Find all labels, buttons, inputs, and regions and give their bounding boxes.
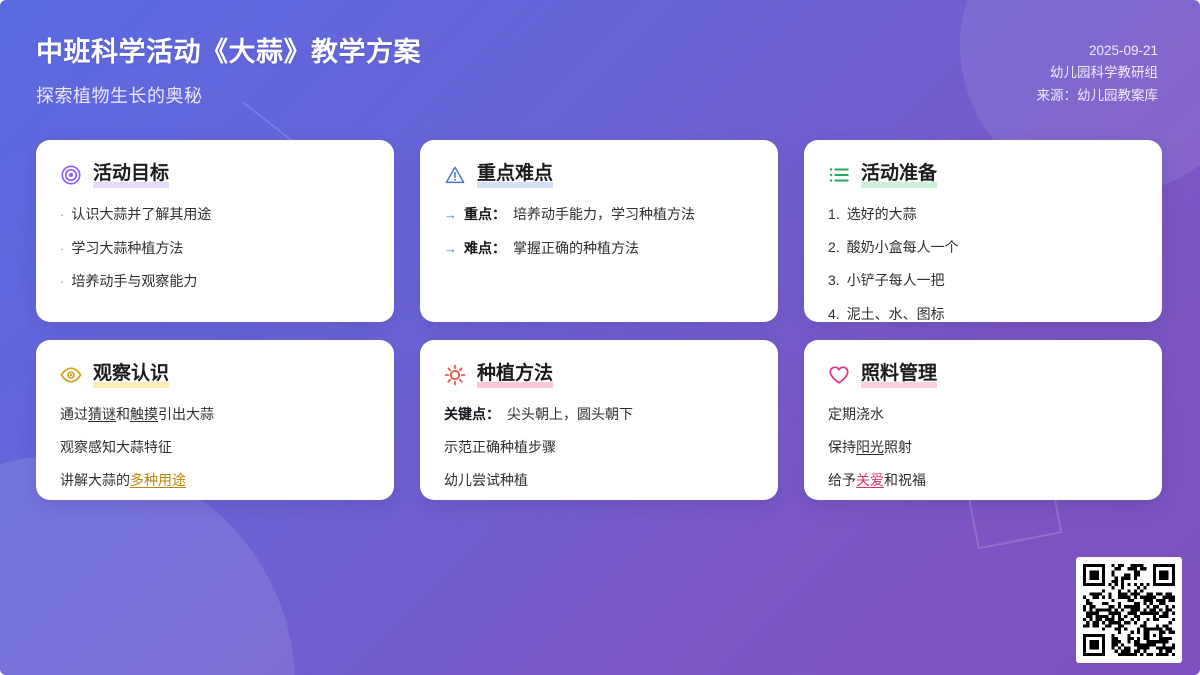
list-item: 1.选好的大蒜: [828, 204, 1138, 224]
text-segment: 通过: [60, 406, 88, 422]
card-header: 种植方法: [444, 362, 754, 388]
item-text: 认识大蒜并了解其用途: [71, 204, 211, 224]
list-item: 示范正确种植步骤: [444, 437, 754, 457]
card-title: 活动准备: [861, 162, 937, 188]
card-header: 重点难点: [444, 162, 754, 188]
item-text: 通过猜谜和触摸引出大蒜: [60, 404, 214, 424]
card-key-difficulties: 重点难点→重点：培养动手能力，学习种植方法→难点：掌握正确的种植方法: [420, 140, 778, 322]
item-text: 幼儿尝试种植: [444, 470, 528, 490]
item-text: 示范正确种植步骤: [444, 437, 556, 457]
bullet-dot-icon: ·: [60, 240, 64, 259]
item-text: 掌握正确的种植方法: [513, 238, 639, 258]
list-item: 幼儿尝试种植: [444, 470, 754, 490]
card-title: 种植方法: [477, 362, 553, 388]
list-item: 保持阳光照射: [828, 437, 1138, 457]
header-meta: 2025-09-21 幼儿园科学教研组 来源：幼儿园教案库: [1037, 30, 1159, 107]
item-text: 培养动手能力，学习种植方法: [513, 204, 695, 224]
card-activity-preparation: 活动准备1.选好的大蒜2.酸奶小盒每人一个3.小铲子每人一把4.泥土、水、图标: [804, 140, 1162, 322]
meta-date: 2025-09-21: [1037, 40, 1159, 62]
item-text: 讲解大蒜的多种用途: [60, 470, 186, 490]
highlighted-term[interactable]: 多种用途: [130, 472, 186, 488]
card-body: 1.选好的大蒜2.酸奶小盒每人一个3.小铲子每人一把4.泥土、水、图标: [828, 204, 1138, 322]
bullet-dot-icon: ·: [60, 273, 64, 292]
card-body: →重点：培养动手能力，学习种植方法→难点：掌握正确的种植方法: [444, 204, 754, 259]
card-observation: 观察认识通过猜谜和触摸引出大蒜观察感知大蒜特征讲解大蒜的多种用途: [36, 340, 394, 500]
card-header: 活动目标: [60, 162, 370, 188]
list-item: 2.酸奶小盒每人一个: [828, 237, 1138, 257]
card-planting-method: 种植方法关键点：尖头朝上，圆头朝下示范正确种植步骤幼儿尝试种植: [420, 340, 778, 500]
slide-canvas: 中班科学活动《大蒜》教学方案 探索植物生长的奥秘 2025-09-21 幼儿园科…: [0, 0, 1200, 675]
card-title: 观察认识: [93, 362, 169, 388]
card-header: 照料管理: [828, 362, 1138, 388]
qr-code[interactable]: [1076, 557, 1182, 663]
text-segment: 示范正确种植步骤: [444, 439, 556, 455]
card-body: 通过猜谜和触摸引出大蒜观察感知大蒜特征讲解大蒜的多种用途: [60, 404, 370, 491]
card-title: 照料管理: [861, 362, 937, 388]
card-header: 观察认识: [60, 362, 370, 388]
list-item: 讲解大蒜的多种用途: [60, 470, 370, 490]
text-segment: 和祝福: [884, 472, 926, 488]
item-text: 酸奶小盒每人一个: [847, 237, 959, 257]
list-icon: [828, 164, 850, 186]
item-text: 定期浇水: [828, 404, 884, 424]
list-item: 定期浇水: [828, 404, 1138, 424]
slide-header: 中班科学活动《大蒜》教学方案 探索植物生长的奥秘 2025-09-21 幼儿园科…: [0, 0, 1200, 140]
text-segment: 定期浇水: [828, 406, 884, 422]
list-item: →难点：掌握正确的种植方法: [444, 238, 754, 259]
list-item: ·认识大蒜并了解其用途: [60, 204, 370, 225]
list-number: 3.: [828, 270, 840, 290]
meta-source: 来源：幼儿园教案库: [1037, 85, 1159, 107]
item-text: 小铲子每人一把: [847, 270, 945, 290]
text-segment: 给予: [828, 472, 856, 488]
list-item: 关键点：尖头朝上，圆头朝下: [444, 404, 754, 424]
list-item: →重点：培养动手能力，学习种植方法: [444, 204, 754, 225]
qr-code-image: [1083, 564, 1175, 656]
highlighted-term[interactable]: 猜谜: [88, 406, 116, 422]
item-text: 尖头朝上，圆头朝下: [507, 404, 633, 424]
card-body: 关键点：尖头朝上，圆头朝下示范正确种植步骤幼儿尝试种植: [444, 404, 754, 491]
item-text: 观察感知大蒜特征: [60, 437, 172, 457]
highlighted-term[interactable]: 阳光: [856, 439, 884, 455]
card-title: 活动目标: [93, 162, 169, 188]
item-text: 泥土、水、图标: [847, 304, 945, 322]
item-text: 保持阳光照射: [828, 437, 912, 457]
list-item: 通过猜谜和触摸引出大蒜: [60, 404, 370, 424]
warning-triangle-icon: [444, 164, 466, 186]
list-number: 1.: [828, 204, 840, 224]
heart-icon: [828, 364, 850, 386]
list-item: 3.小铲子每人一把: [828, 270, 1138, 290]
list-item: 4.泥土、水、图标: [828, 304, 1138, 322]
highlighted-term[interactable]: 触摸: [130, 406, 158, 422]
list-number: 2.: [828, 237, 840, 257]
item-label: 难点：: [464, 238, 506, 258]
text-segment: 引出大蒜: [158, 406, 214, 422]
card-body: 定期浇水保持阳光照射给予关爱和祝福: [828, 404, 1138, 491]
card-care-management: 照料管理定期浇水保持阳光照射给予关爱和祝福: [804, 340, 1162, 500]
text-segment: 照射: [884, 439, 912, 455]
page-subtitle: 探索植物生长的奥秘: [36, 82, 421, 108]
arrow-right-icon: →: [444, 240, 457, 259]
title-block: 中班科学活动《大蒜》教学方案 探索植物生长的奥秘: [36, 30, 421, 108]
sun-icon: [444, 364, 466, 386]
list-item: 观察感知大蒜特征: [60, 437, 370, 457]
item-label: 关键点：: [444, 404, 500, 424]
card-title: 重点难点: [477, 162, 553, 188]
bullet-dot-icon: ·: [60, 206, 64, 225]
arrow-right-icon: →: [444, 206, 457, 225]
item-text: 学习大蒜种植方法: [71, 238, 183, 258]
card-header: 活动准备: [828, 162, 1138, 188]
card-activity-goals: 活动目标·认识大蒜并了解其用途·学习大蒜种植方法·培养动手与观察能力: [36, 140, 394, 322]
text-segment: 讲解大蒜的: [60, 472, 130, 488]
item-text: 给予关爱和祝福: [828, 470, 926, 490]
list-item: ·培养动手与观察能力: [60, 271, 370, 292]
target-icon: [60, 164, 82, 186]
text-segment: 和: [116, 406, 130, 422]
item-text: 培养动手与观察能力: [71, 271, 197, 291]
list-number: 4.: [828, 304, 840, 322]
text-segment: 保持: [828, 439, 856, 455]
card-body: ·认识大蒜并了解其用途·学习大蒜种植方法·培养动手与观察能力: [60, 204, 370, 293]
item-text: 选好的大蒜: [847, 204, 917, 224]
highlighted-term[interactable]: 关爱: [856, 472, 884, 488]
list-item: 给予关爱和祝福: [828, 470, 1138, 490]
eye-icon: [60, 364, 82, 386]
meta-organization: 幼儿园科学教研组: [1037, 62, 1159, 84]
item-label: 重点：: [464, 204, 506, 224]
text-segment: 观察感知大蒜特征: [60, 439, 172, 455]
content-card-grid: 活动目标·认识大蒜并了解其用途·学习大蒜种植方法·培养动手与观察能力 重点难点→…: [0, 140, 1200, 500]
list-item: ·学习大蒜种植方法: [60, 238, 370, 259]
text-segment: 幼儿尝试种植: [444, 472, 528, 488]
page-title: 中班科学活动《大蒜》教学方案: [36, 36, 421, 68]
